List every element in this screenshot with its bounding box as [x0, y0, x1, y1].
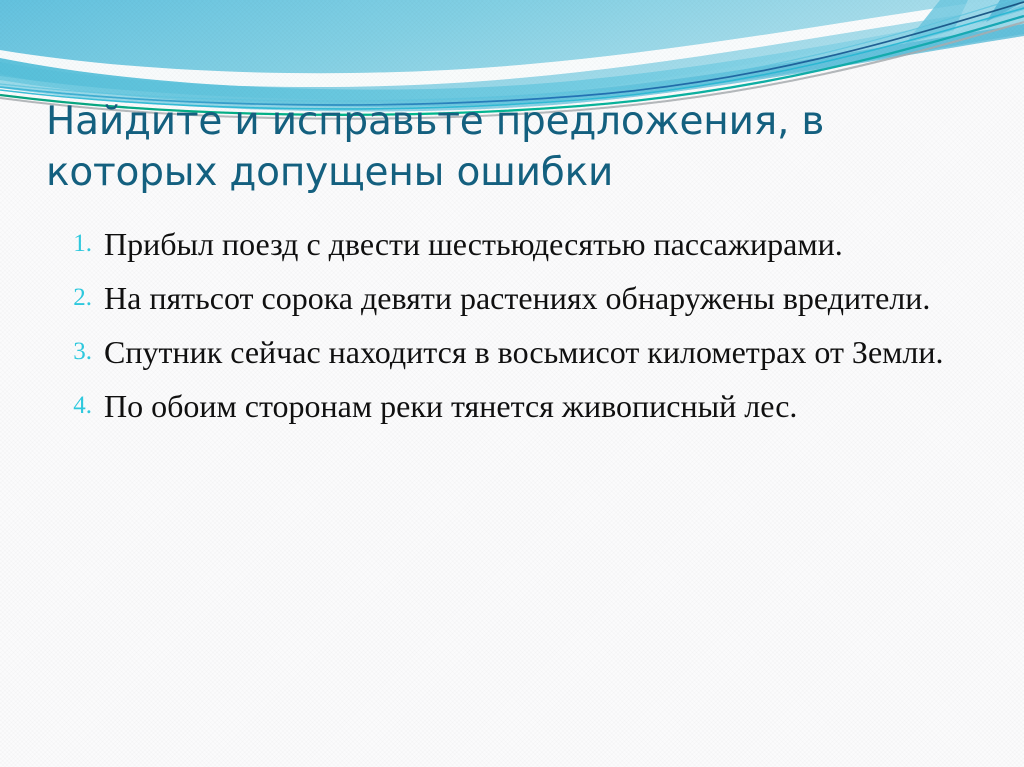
list-item-number: 3.	[44, 327, 104, 377]
list-item: 4. По обоим сторонам реки тянется живопи…	[44, 381, 994, 431]
list-item: 2. На пятьсот сорока девяти растениях об…	[44, 273, 994, 323]
slide-canvas: Найдите и исправьте предложения, в котор…	[0, 0, 1024, 767]
list-item-text: По обоим сторонам реки тянется живописны…	[104, 381, 959, 431]
title-line-1: Найдите и исправьте предложения, в	[46, 96, 946, 147]
list-item: 1. Прибыл поезд с двести шестьюдесятью п…	[44, 219, 994, 269]
list-item-number: 2.	[44, 273, 104, 323]
list-item-text: На пятьсот сорока девяти растениях обнар…	[104, 273, 959, 323]
title-line-2: которых допущены ошибки	[46, 147, 946, 198]
numbered-sentence-list: 1. Прибыл поезд с двести шестьюдесятью п…	[44, 219, 994, 435]
list-item-number: 4.	[44, 381, 104, 431]
list-item: 3. Спутник сейчас находится в восьмисот …	[44, 327, 994, 377]
list-item-text: Прибыл поезд с двести шестьюдесятью пасс…	[104, 219, 959, 269]
list-item-number: 1.	[44, 219, 104, 269]
slide-title: Найдите и исправьте предложения, в котор…	[46, 96, 946, 198]
list-item-text: Спутник сейчас находится в восьмисот кил…	[104, 327, 959, 377]
